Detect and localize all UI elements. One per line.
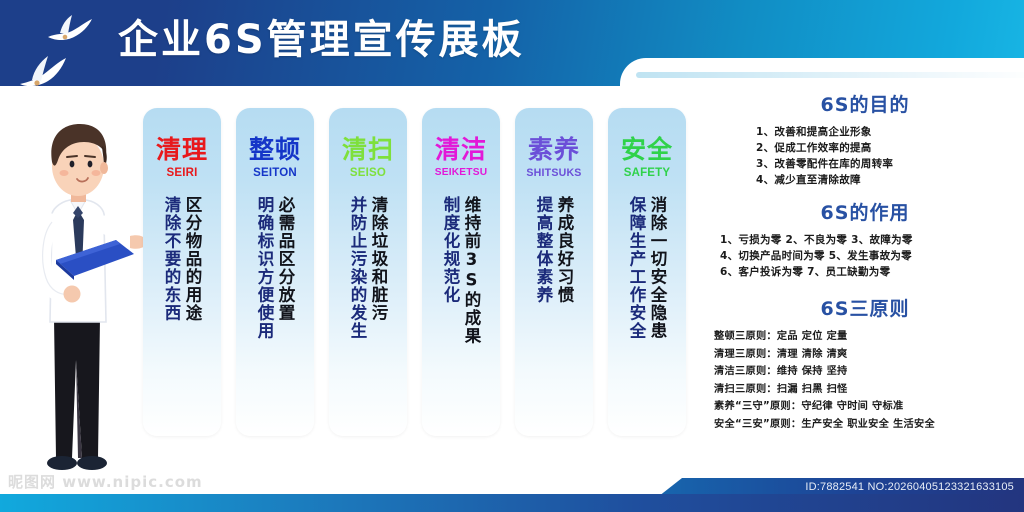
card-roman-label: SAFETY: [608, 166, 686, 180]
footer-band: [0, 494, 1024, 512]
card-title: 素养: [515, 136, 593, 164]
card-line-primary: 消除一切安全隐患: [648, 196, 667, 432]
card-line-primary: 清除垃圾和脏污: [369, 196, 388, 432]
card-line-accent: 明确标识方便使用: [255, 196, 274, 432]
watermark-text: 昵图网 www.nipic.com: [8, 471, 203, 492]
card-line-accent: 并防止污染的发生: [348, 196, 367, 432]
card-vertical-text: 消除一切安全隐患 保障生产工作安全: [608, 196, 686, 432]
card-roman-label: SEISO: [329, 166, 407, 180]
card-vertical-text: 养成良好习惯 提高整体素养: [515, 196, 593, 432]
info-panel: 6S的目的 1、改善和提高企业形象 2、促成工作效率的提高 3、改善零配件在库的…: [706, 92, 1024, 462]
card-shitsuke[interactable]: 素养 SHITSUKS 养成良好习惯 提高整体素养: [515, 108, 593, 436]
card-roman-label: SHITSUKS: [515, 166, 593, 180]
card-line-accent: 制度化规范化: [441, 196, 460, 432]
businessman-illustration: [16, 110, 146, 490]
dove-icon: [14, 50, 72, 92]
section-purpose: 6S的目的 1、改善和提高企业形象 2、促成工作效率的提高 3、改善零配件在库的…: [706, 92, 1024, 188]
dove-icon: [44, 13, 96, 47]
list-item: 1、亏损为零 2、不良为零 3、故障为零: [706, 232, 1024, 248]
section-list: 1、亏损为零 2、不良为零 3、故障为零 4、切换产品时间为零 5、发生事故为零…: [706, 232, 1024, 280]
list-item: 6、客户投诉为零 7、员工缺勤为零: [706, 264, 1024, 280]
section-list: 1、改善和提高企业形象 2、促成工作效率的提高 3、改善零配件在库的周转率 4、…: [706, 124, 1024, 188]
card-title: 清洁: [422, 136, 500, 164]
section-principles: 6S三原则 整顿三原则：定品 定位 定量 清理三原则：清理 清除 清爽 清洁三原…: [706, 296, 1024, 433]
card-line-primary: 维持前3S的成果: [462, 196, 481, 432]
card-title: 清理: [143, 136, 221, 164]
section-list: 整顿三原则：定品 定位 定量 清理三原则：清理 清除 清爽 清洁三原则：维持 保…: [706, 328, 1024, 433]
card-title: 清扫: [329, 136, 407, 164]
card-line-primary: 区分物品的用途: [183, 196, 202, 432]
card-safety[interactable]: 安全 SAFETY 消除一切安全隐患 保障生产工作安全: [608, 108, 686, 436]
list-item: 清理三原则：清理 清除 清爽: [706, 346, 1024, 364]
page-title: 企业6S管理宣传展板: [118, 14, 525, 66]
section-effects: 6S的作用 1、亏损为零 2、不良为零 3、故障为零 4、切换产品时间为零 5、…: [706, 200, 1024, 280]
list-item: 4、切换产品时间为零 5、发生事故为零: [706, 248, 1024, 264]
card-seiton[interactable]: 整顿 SEITON 必需品区分放置 明确标识方便使用: [236, 108, 314, 436]
header-highlight-line: [636, 72, 1024, 78]
card-line-primary: 必需品区分放置: [276, 196, 295, 432]
card-seiri[interactable]: 清理 SEIRI 区分物品的用途 清除不要的东西: [143, 108, 221, 436]
card-roman-label: SEIRI: [143, 166, 221, 180]
list-item: 3、改善零配件在库的周转率: [706, 156, 1024, 172]
list-item: 整顿三原则：定品 定位 定量: [706, 328, 1024, 346]
card-vertical-text: 区分物品的用途 清除不要的东西: [143, 196, 221, 432]
card-roman-label: SEITON: [236, 166, 314, 180]
card-line-accent: 清除不要的东西: [162, 196, 181, 432]
list-item: 素养“三守”原则：守纪律 守时间 守标准: [706, 398, 1024, 416]
card-seiso[interactable]: 清扫 SEISO 清除垃圾和脏污 并防止污染的发生: [329, 108, 407, 436]
list-item: 4、减少直至清除故障: [706, 172, 1024, 188]
card-line-accent: 保障生产工作安全: [627, 196, 646, 432]
card-vertical-text: 必需品区分放置 明确标识方便使用: [236, 196, 314, 432]
list-item: 1、改善和提高企业形象: [706, 124, 1024, 140]
list-item: 清洁三原则：维持 保持 坚持: [706, 363, 1024, 381]
section-title: 6S的作用: [706, 200, 1024, 226]
section-title: 6S三原则: [706, 296, 1024, 322]
page-footer: 昵图网 www.nipic.com ID:7882541 NO:20260405…: [0, 466, 1024, 512]
image-id-label: ID:7882541 NO:20260405123321633105: [805, 481, 1014, 493]
card-vertical-text: 维持前3S的成果 制度化规范化: [422, 196, 500, 432]
six-s-card-list: 清理 SEIRI 区分物品的用途 清除不要的东西 整顿 SEITON 必需品区分…: [143, 108, 699, 438]
card-title: 整顿: [236, 136, 314, 164]
card-roman-label: SEIKETSU: [422, 166, 500, 180]
list-item: 清扫三原则：扫漏 扫黑 扫怪: [706, 381, 1024, 399]
list-item: 安全“三安”原则：生产安全 职业安全 生活安全: [706, 416, 1024, 434]
card-title: 安全: [608, 136, 686, 164]
card-seiketsu[interactable]: 清洁 SEIKETSU 维持前3S的成果 制度化规范化: [422, 108, 500, 436]
card-line-primary: 养成良好习惯: [555, 196, 574, 432]
card-line-accent: 提高整体素养: [534, 196, 553, 432]
section-title: 6S的目的: [706, 92, 1024, 118]
card-vertical-text: 清除垃圾和脏污 并防止污染的发生: [329, 196, 407, 432]
list-item: 2、促成工作效率的提高: [706, 140, 1024, 156]
